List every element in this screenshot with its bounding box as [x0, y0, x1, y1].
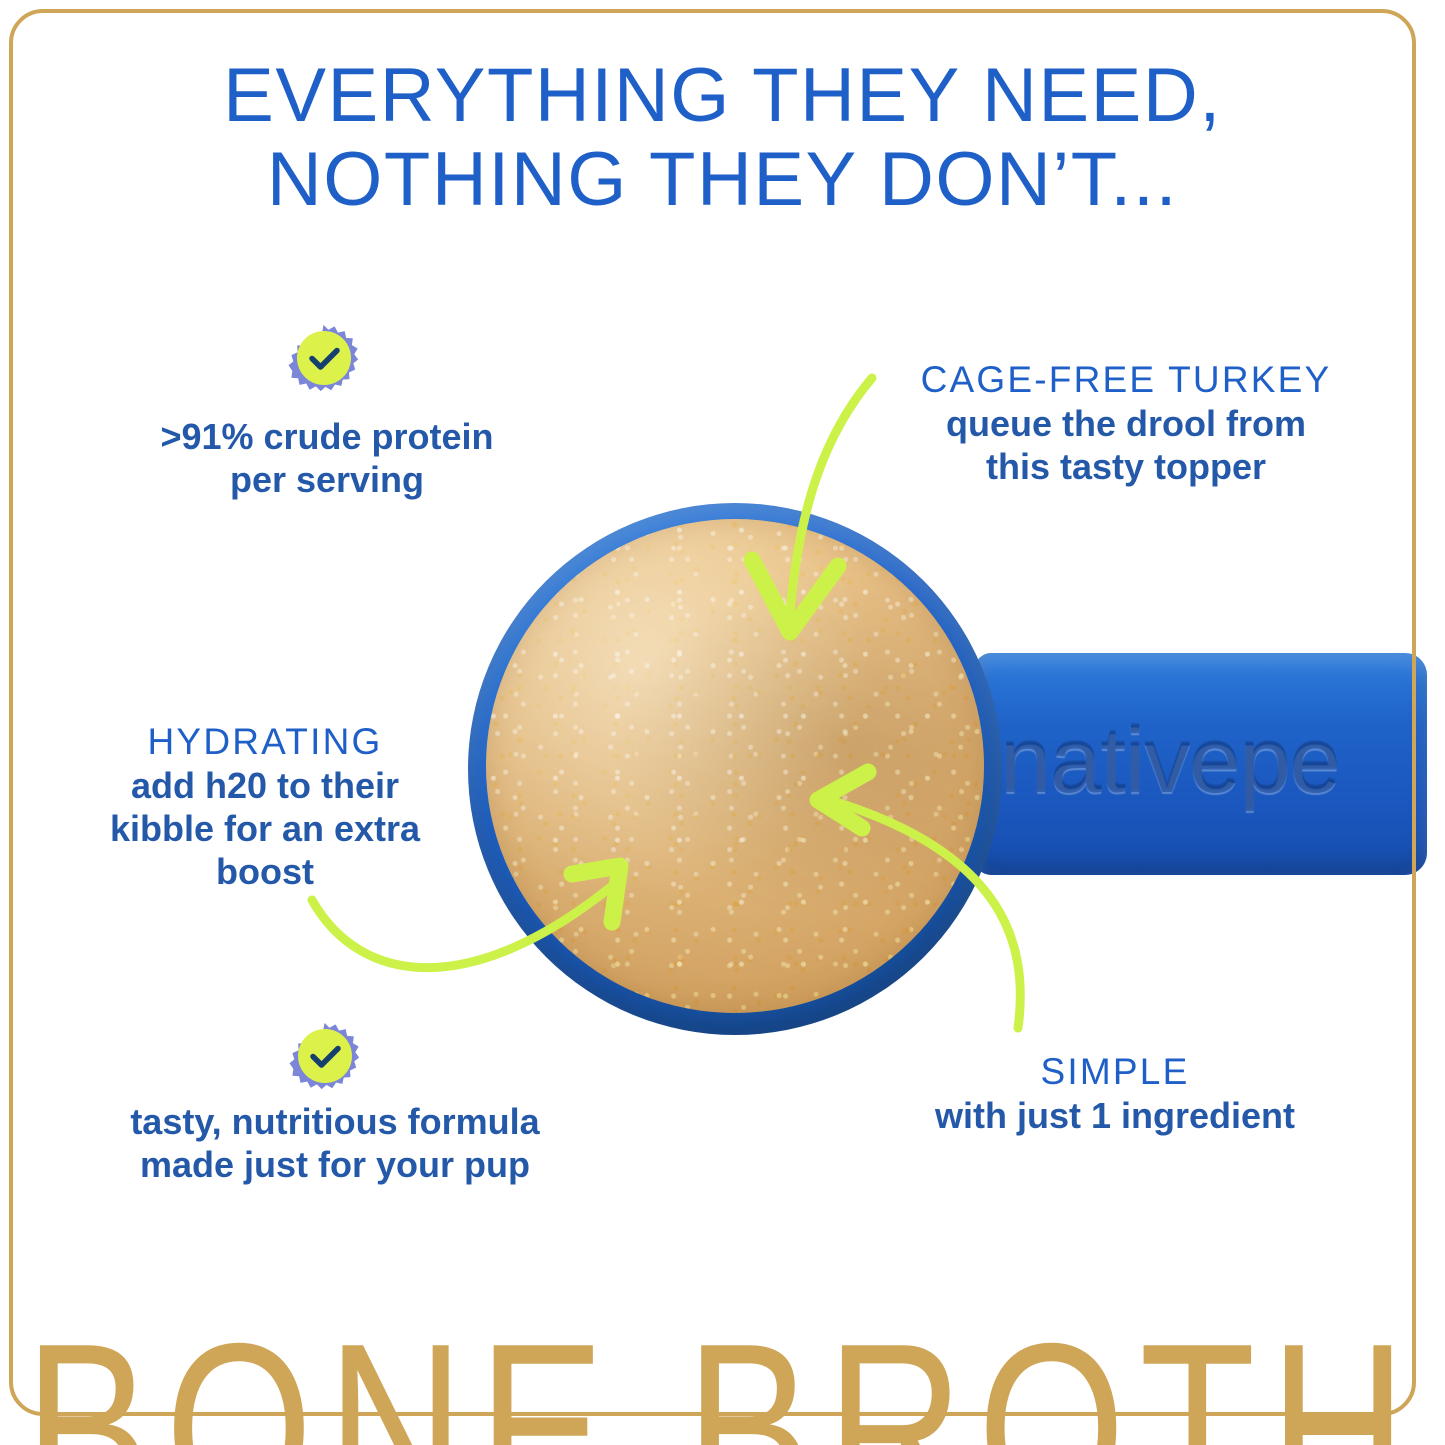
callout-hydrating-title: HYDRATING — [60, 720, 470, 764]
callout-protein: >91% crude protein per serving — [92, 415, 562, 501]
callout-cage-free-turkey: CAGE-FREE TURKEY queue the drool from th… — [866, 358, 1386, 488]
page-title: EVERYTHING THEY NEED, NOTHING THEY DON’T… — [0, 54, 1445, 222]
callout-turkey-title: CAGE-FREE TURKEY — [866, 358, 1386, 402]
callout-tasty: tasty, nutritious formula made just for … — [80, 1100, 590, 1186]
product-name-banner: BONE BROTH — [0, 1318, 1445, 1445]
callout-turkey-body: queue the drool from this tasty topper — [866, 402, 1386, 488]
powder-texture — [486, 519, 984, 1013]
callout-hydrating-body: add h20 to their kibble for an extra boo… — [60, 764, 470, 893]
scoop-brand-emboss: nativepe — [1000, 706, 1430, 816]
bone-broth-powder — [486, 519, 984, 1013]
callout-simple-title: SIMPLE — [880, 1050, 1350, 1094]
callout-simple: SIMPLE with just 1 ingredient — [880, 1050, 1350, 1137]
product-infographic: EVERYTHING THEY NEED, NOTHING THEY DON’T… — [0, 0, 1445, 1445]
callout-protein-body: >91% crude protein per serving — [92, 415, 562, 501]
callout-simple-body: with just 1 ingredient — [880, 1094, 1350, 1137]
callout-tasty-body: tasty, nutritious formula made just for … — [80, 1100, 590, 1186]
callout-hydrating: HYDRATING add h20 to their kibble for an… — [60, 720, 470, 893]
